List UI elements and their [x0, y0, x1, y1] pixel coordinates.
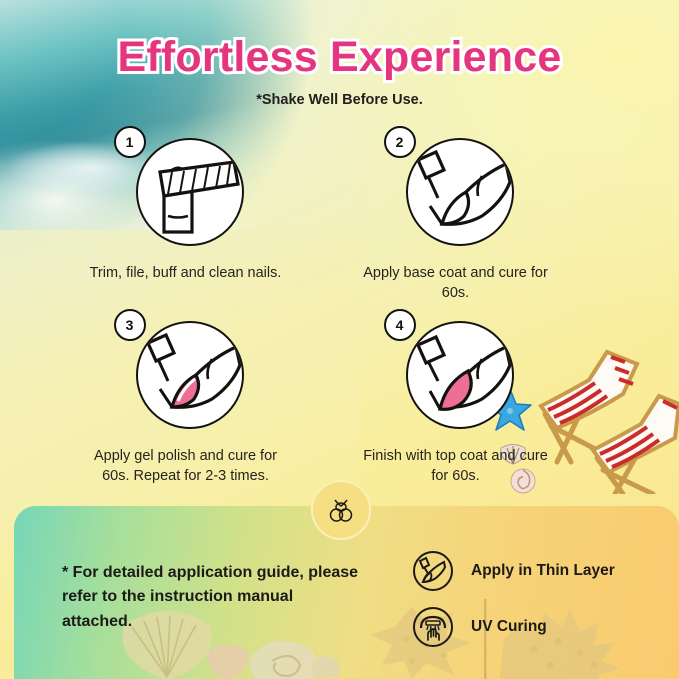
brand-badge — [311, 480, 371, 540]
steps-row-2: 3 Apply gel polish and cure for 60s. Rep… — [0, 315, 679, 486]
feature-label: UV Curing — [471, 618, 547, 636]
step-1-artwork: 1 — [126, 132, 246, 252]
step-3-illustration — [136, 321, 244, 429]
thin-layer-brush-icon — [412, 550, 454, 592]
step-2-illustration — [406, 138, 514, 246]
step-1-caption: Trim, file, buff and clean nails. — [83, 264, 288, 284]
base-coat-brush-icon — [408, 140, 512, 244]
feature-apply-thin-layer: Apply in Thin Layer — [412, 550, 615, 592]
top-coat-brush-icon — [408, 323, 512, 427]
step-1: 1 Trim, file, buff and clean nails. — [68, 132, 303, 303]
step-3-caption: Apply gel polish and cure for 60s. Repea… — [83, 447, 288, 486]
feature-label: Apply in Thin Layer — [471, 562, 615, 580]
step-1-number: 1 — [114, 126, 146, 158]
product-instruction-poster: Effortless Experience *Shake Well Before… — [0, 0, 679, 679]
step-2-number: 2 — [384, 126, 416, 158]
page-subtitle: *Shake Well Before Use. — [0, 92, 679, 108]
step-4: 4 Finish with top coat and cure for 60s. — [338, 315, 573, 486]
features-list: Apply in Thin Layer UV Curing — [412, 550, 615, 662]
step-2-caption: Apply base coat and cure for 60s. — [353, 264, 558, 303]
step-4-illustration — [406, 321, 514, 429]
uv-lamp-icon — [412, 606, 454, 648]
steps-grid: 1 Trim, file, buff and clean nails. — [0, 132, 679, 486]
step-2-artwork: 2 — [396, 132, 516, 252]
step-3: 3 Apply gel polish and cure for 60s. Rep… — [68, 315, 303, 486]
step-4-caption: Finish with top coat and cure for 60s. — [353, 447, 558, 486]
page-title: Effortless Experience — [0, 33, 679, 82]
gel-polish-brush-icon — [138, 323, 242, 427]
step-1-illustration — [136, 138, 244, 246]
step-2: 2 Apply base coat and cure for 60s. — [338, 132, 573, 303]
brand-logo-icon — [326, 495, 356, 525]
instruction-manual-note: * For detailed application guide, please… — [62, 561, 362, 634]
nail-file-icon — [138, 140, 242, 244]
step-4-number: 4 — [384, 309, 416, 341]
step-3-artwork: 3 — [126, 315, 246, 435]
feature-uv-curing: UV Curing — [412, 606, 615, 648]
step-4-artwork: 4 — [396, 315, 516, 435]
step-3-number: 3 — [114, 309, 146, 341]
steps-row-1: 1 Trim, file, buff and clean nails. — [0, 132, 679, 303]
